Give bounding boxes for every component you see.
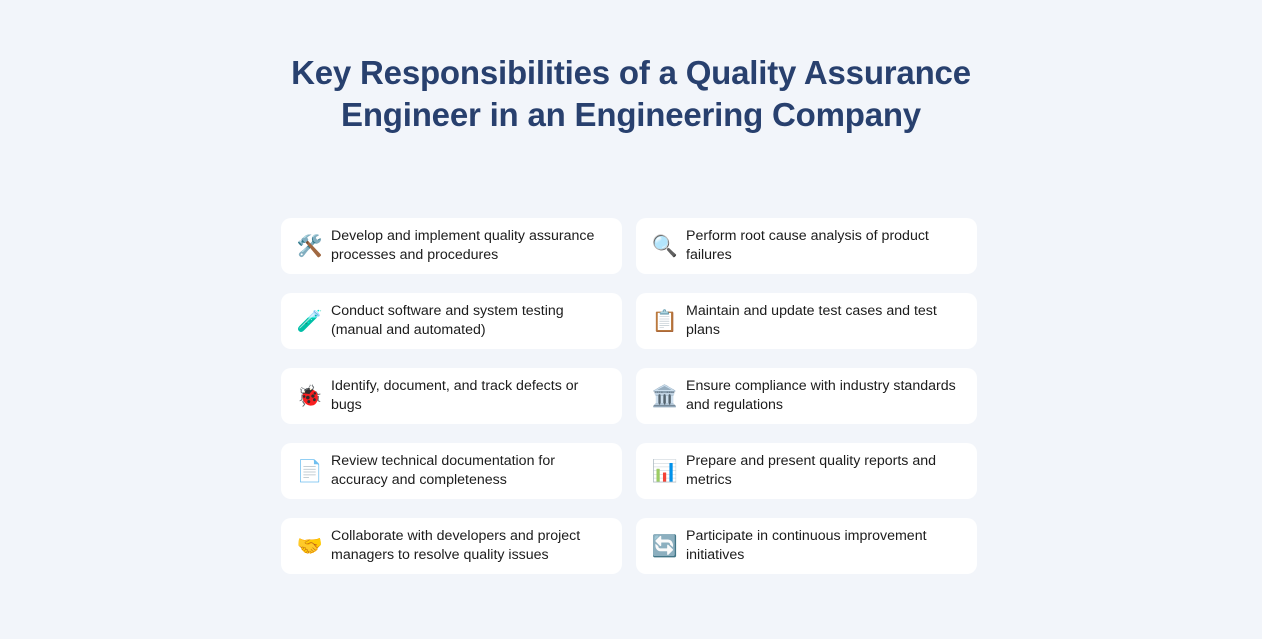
counterclockwise-arrows-icon: 🔄 <box>648 529 682 563</box>
classical-building-icon: 🏛️ <box>648 379 682 413</box>
clipboard-icon: 📋 <box>648 304 682 338</box>
responsibility-text: Identify, document, and track defects or… <box>327 377 608 416</box>
responsibility-text: Ensure compliance with industry standard… <box>682 377 963 416</box>
responsibility-card[interactable]: 🤝 Collaborate with developers and projec… <box>281 518 622 574</box>
infographic-page: Key Responsibilities of a Quality Assura… <box>0 0 1262 639</box>
responsibility-text: Develop and implement quality assurance … <box>327 227 608 266</box>
responsibility-columns: 🛠️ Develop and implement quality assuran… <box>281 218 983 574</box>
magnifying-glass-icon: 🔍 <box>648 229 682 263</box>
handshake-icon: 🤝 <box>293 529 327 563</box>
responsibility-text: Participate in continuous improvement in… <box>682 527 963 566</box>
responsibility-text: Perform root cause analysis of product f… <box>682 227 963 266</box>
test-tube-icon: 🧪 <box>293 304 327 338</box>
bar-chart-icon: 📊 <box>648 454 682 488</box>
responsibility-card[interactable]: 🔄 Participate in continuous improvement … <box>636 518 977 574</box>
page-facing-up-icon: 📄 <box>293 454 327 488</box>
responsibility-text: Prepare and present quality reports and … <box>682 452 963 491</box>
responsibility-card[interactable]: 📄 Review technical documentation for acc… <box>281 443 622 499</box>
responsibility-card[interactable]: 🔍 Perform root cause analysis of product… <box>636 218 977 274</box>
responsibility-card[interactable]: 🐞 Identify, document, and track defects … <box>281 368 622 424</box>
responsibility-card[interactable]: 🧪 Conduct software and system testing (m… <box>281 293 622 349</box>
responsibility-text: Conduct software and system testing (man… <box>327 302 608 341</box>
responsibility-card[interactable]: 🛠️ Develop and implement quality assuran… <box>281 218 622 274</box>
left-column: 🛠️ Develop and implement quality assuran… <box>281 218 622 574</box>
responsibility-card[interactable]: 📊 Prepare and present quality reports an… <box>636 443 977 499</box>
right-column: 🔍 Perform root cause analysis of product… <box>636 218 977 574</box>
lady-beetle-icon: 🐞 <box>293 379 327 413</box>
responsibility-card[interactable]: 🏛️ Ensure compliance with industry stand… <box>636 368 977 424</box>
responsibility-text: Maintain and update test cases and test … <box>682 302 963 341</box>
responsibility-card[interactable]: 📋 Maintain and update test cases and tes… <box>636 293 977 349</box>
page-title: Key Responsibilities of a Quality Assura… <box>281 52 981 136</box>
responsibility-text: Review technical documentation for accur… <box>327 452 608 491</box>
hammer-and-wrench-icon: 🛠️ <box>293 229 327 263</box>
responsibility-text: Collaborate with developers and project … <box>327 527 608 566</box>
